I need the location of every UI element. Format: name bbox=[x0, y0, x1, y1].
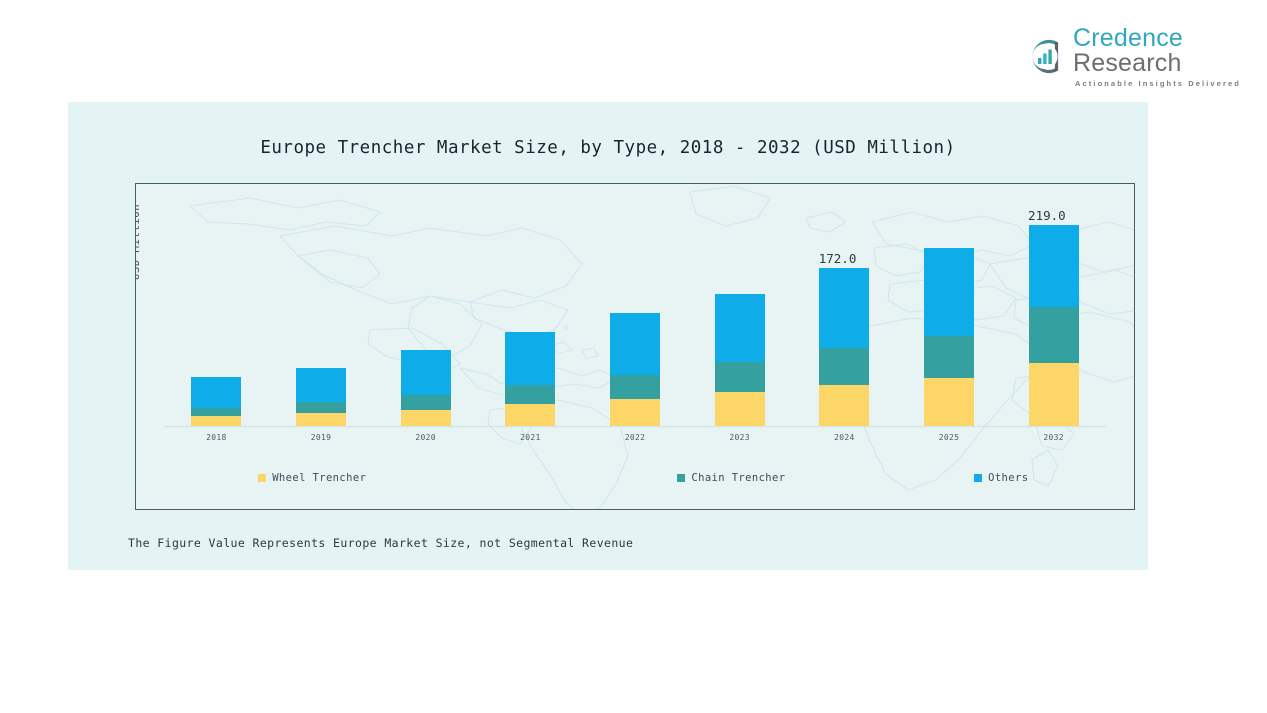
bar-value-label-2032: 219.0 bbox=[1028, 208, 1066, 223]
bar-segment-chain-trencher-2032[interactable] bbox=[1029, 307, 1079, 363]
bar-2025[interactable] bbox=[924, 248, 974, 426]
bar-segment-chain-trencher-2022[interactable] bbox=[610, 375, 660, 399]
bar-segment-others-2020[interactable] bbox=[401, 350, 451, 395]
legend-label: Chain Trencher bbox=[691, 472, 785, 484]
legend-item-wheel-trencher[interactable]: Wheel Trencher bbox=[258, 472, 366, 484]
bar-segment-chain-trencher-2023[interactable] bbox=[715, 362, 765, 392]
figure-title: Europe Trencher Market Size, by Type, 20… bbox=[68, 138, 1148, 158]
bar-value-label-2024: 172.0 bbox=[819, 251, 857, 266]
legend-item-others[interactable]: Others bbox=[974, 472, 1028, 484]
bar-segment-others-2022[interactable] bbox=[610, 313, 660, 374]
bar-segment-others-2023[interactable] bbox=[715, 294, 765, 362]
bar-2019[interactable] bbox=[296, 368, 346, 426]
bar-segment-others-2025[interactable] bbox=[924, 248, 974, 336]
legend-swatch-others-icon bbox=[974, 474, 982, 482]
bar-segment-chain-trencher-2019[interactable] bbox=[296, 402, 346, 413]
legend-label: Others bbox=[988, 472, 1028, 484]
brand-logo: Credence Research Actionable Insights De… bbox=[1026, 26, 1267, 88]
legend-swatch-wheel-trencher-icon bbox=[258, 474, 266, 482]
legend-item-chain-trencher[interactable]: Chain Trencher bbox=[677, 472, 785, 484]
legend-label: Wheel Trencher bbox=[272, 472, 366, 484]
bar-segment-wheel-trencher-2024[interactable] bbox=[819, 385, 869, 426]
bar-segment-wheel-trencher-2032[interactable] bbox=[1029, 363, 1079, 426]
x-axis-tick-2019: 2019 bbox=[281, 433, 361, 442]
bar-2024[interactable]: 172.0 bbox=[819, 268, 869, 426]
bar-2020[interactable] bbox=[401, 350, 451, 426]
bar-segment-others-2019[interactable] bbox=[296, 368, 346, 402]
legend-swatch-chain-trencher-icon bbox=[677, 474, 685, 482]
brand-tagline: Actionable Insights Delivered bbox=[1075, 80, 1267, 88]
bar-segment-wheel-trencher-2025[interactable] bbox=[924, 378, 974, 426]
chart-legend: Wheel TrencherChain TrencherOthers bbox=[164, 472, 1106, 486]
bar-segment-wheel-trencher-2022[interactable] bbox=[610, 399, 660, 427]
bar-segment-others-2032[interactable] bbox=[1029, 225, 1079, 307]
bar-series-container: 201820192020202120222023172.020242025219… bbox=[136, 184, 1134, 509]
bar-segment-wheel-trencher-2021[interactable] bbox=[505, 404, 555, 426]
bar-2018[interactable] bbox=[191, 377, 241, 426]
bar-2032[interactable]: 219.0 bbox=[1029, 225, 1079, 426]
x-axis-tick-2021: 2021 bbox=[490, 433, 570, 442]
x-axis-tick-2020: 2020 bbox=[386, 433, 466, 442]
bar-segment-chain-trencher-2024[interactable] bbox=[819, 348, 869, 385]
bar-segment-others-2021[interactable] bbox=[505, 332, 555, 385]
bar-segment-chain-trencher-2018[interactable] bbox=[191, 408, 241, 416]
brand-name: Credence Research bbox=[1073, 26, 1267, 76]
bar-2021[interactable] bbox=[505, 332, 555, 426]
bar-segment-chain-trencher-2020[interactable] bbox=[401, 395, 451, 410]
bar-segment-others-2024[interactable] bbox=[819, 268, 869, 348]
brand-wordmark: Credence Research Actionable Insights De… bbox=[1073, 26, 1267, 88]
bar-chart-circle-logo-icon bbox=[1026, 38, 1064, 76]
bar-2022[interactable] bbox=[610, 313, 660, 426]
brand-name-primary: Credence bbox=[1073, 24, 1183, 52]
bar-segment-chain-trencher-2025[interactable] bbox=[924, 336, 974, 378]
bar-segment-wheel-trencher-2023[interactable] bbox=[715, 392, 765, 426]
x-axis-tick-2032: 2032 bbox=[1014, 433, 1094, 442]
bar-segment-others-2018[interactable] bbox=[191, 377, 241, 407]
bar-2023[interactable] bbox=[715, 294, 765, 426]
plot-area: USD Million 201820192020202120222023172.… bbox=[135, 183, 1135, 510]
x-axis-tick-2018: 2018 bbox=[176, 433, 256, 442]
x-axis-tick-2022: 2022 bbox=[595, 433, 675, 442]
x-axis-tick-2025: 2025 bbox=[909, 433, 989, 442]
figure-footnote: The Figure Value Represents Europe Marke… bbox=[128, 536, 633, 550]
bar-segment-wheel-trencher-2018[interactable] bbox=[191, 416, 241, 426]
figure-panel: Europe Trencher Market Size, by Type, 20… bbox=[68, 102, 1148, 570]
bar-segment-wheel-trencher-2020[interactable] bbox=[401, 410, 451, 427]
x-axis-tick-2024: 2024 bbox=[804, 433, 884, 442]
bar-segment-wheel-trencher-2019[interactable] bbox=[296, 413, 346, 426]
bar-segment-chain-trencher-2021[interactable] bbox=[505, 385, 555, 404]
brand-name-secondary: Research bbox=[1073, 49, 1182, 77]
x-axis-tick-2023: 2023 bbox=[700, 433, 780, 442]
